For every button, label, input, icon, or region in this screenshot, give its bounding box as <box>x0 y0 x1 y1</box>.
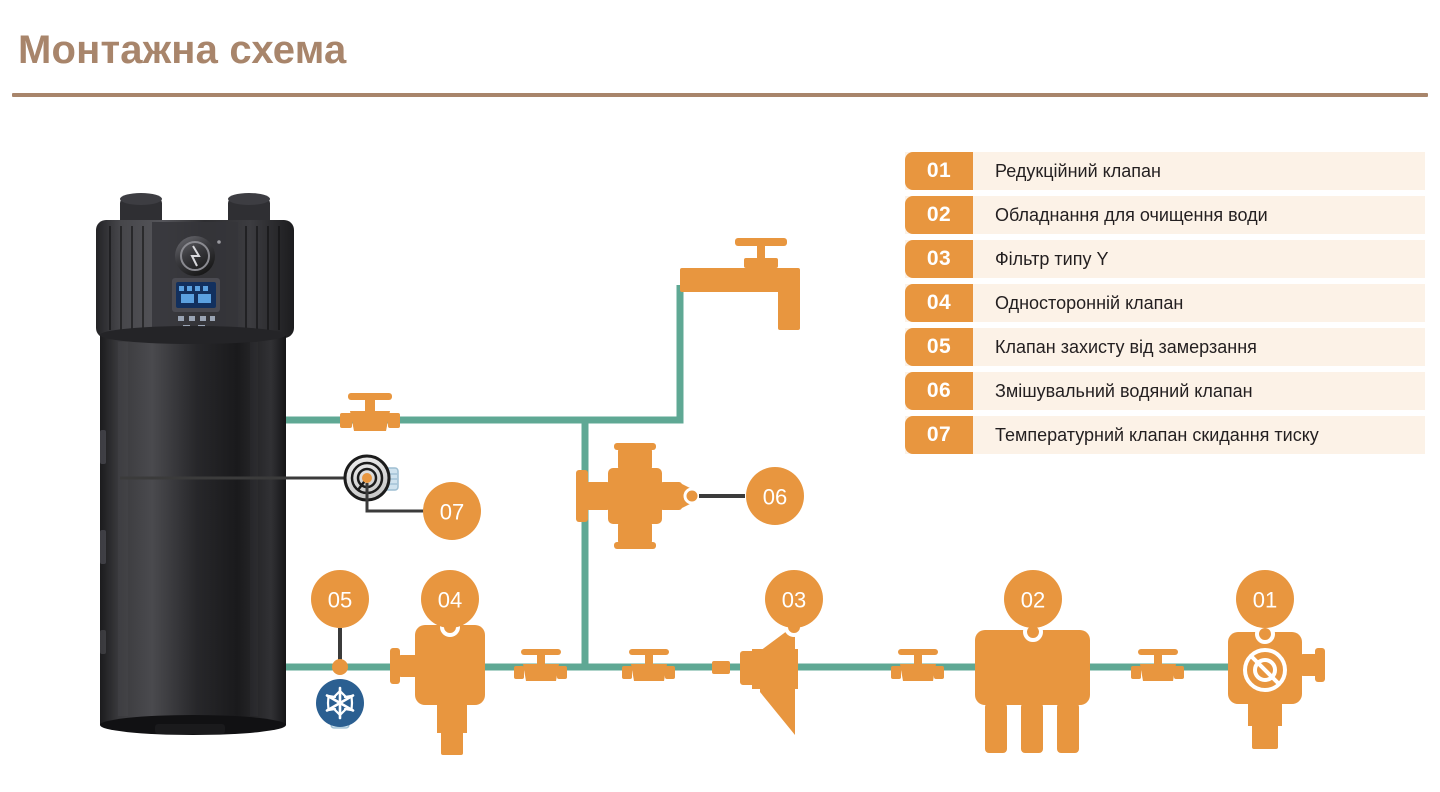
callout-label-04: 04 <box>438 588 462 613</box>
freeze-protection-valve-05: 05 <box>311 570 369 728</box>
callout-label-01: 01 <box>1253 588 1277 613</box>
y-filter-03: 03 <box>740 570 823 735</box>
installation-diagram-page: Монтажна схема 01 Редукційний клапан 02 … <box>0 0 1440 792</box>
plumbing-diagram: 07 06 05 <box>0 130 900 790</box>
pipe-coupling-a-icon <box>712 661 730 674</box>
water-treatment-equipment-02: 02 <box>975 570 1090 753</box>
callout-label-02: 02 <box>1021 588 1045 613</box>
page-title: Монтажна схема <box>18 28 346 73</box>
mixing-valve-06: 06 <box>576 443 804 549</box>
pressure-reducing-valve-01: 01 <box>1228 570 1325 749</box>
snowflake-badge-icon <box>316 679 364 728</box>
title-divider <box>12 93 1428 97</box>
callout-label-07: 07 <box>440 500 464 525</box>
hot-water-pipe <box>285 285 680 420</box>
callout-label-06: 06 <box>763 485 787 510</box>
callout-label-03: 03 <box>782 588 806 613</box>
callout-label-05: 05 <box>328 588 352 613</box>
faucet-icon <box>680 238 800 330</box>
water-heater-tank <box>96 193 294 735</box>
check-valve-04: 04 <box>390 570 485 755</box>
gate-valve-hot-icon <box>340 393 400 431</box>
